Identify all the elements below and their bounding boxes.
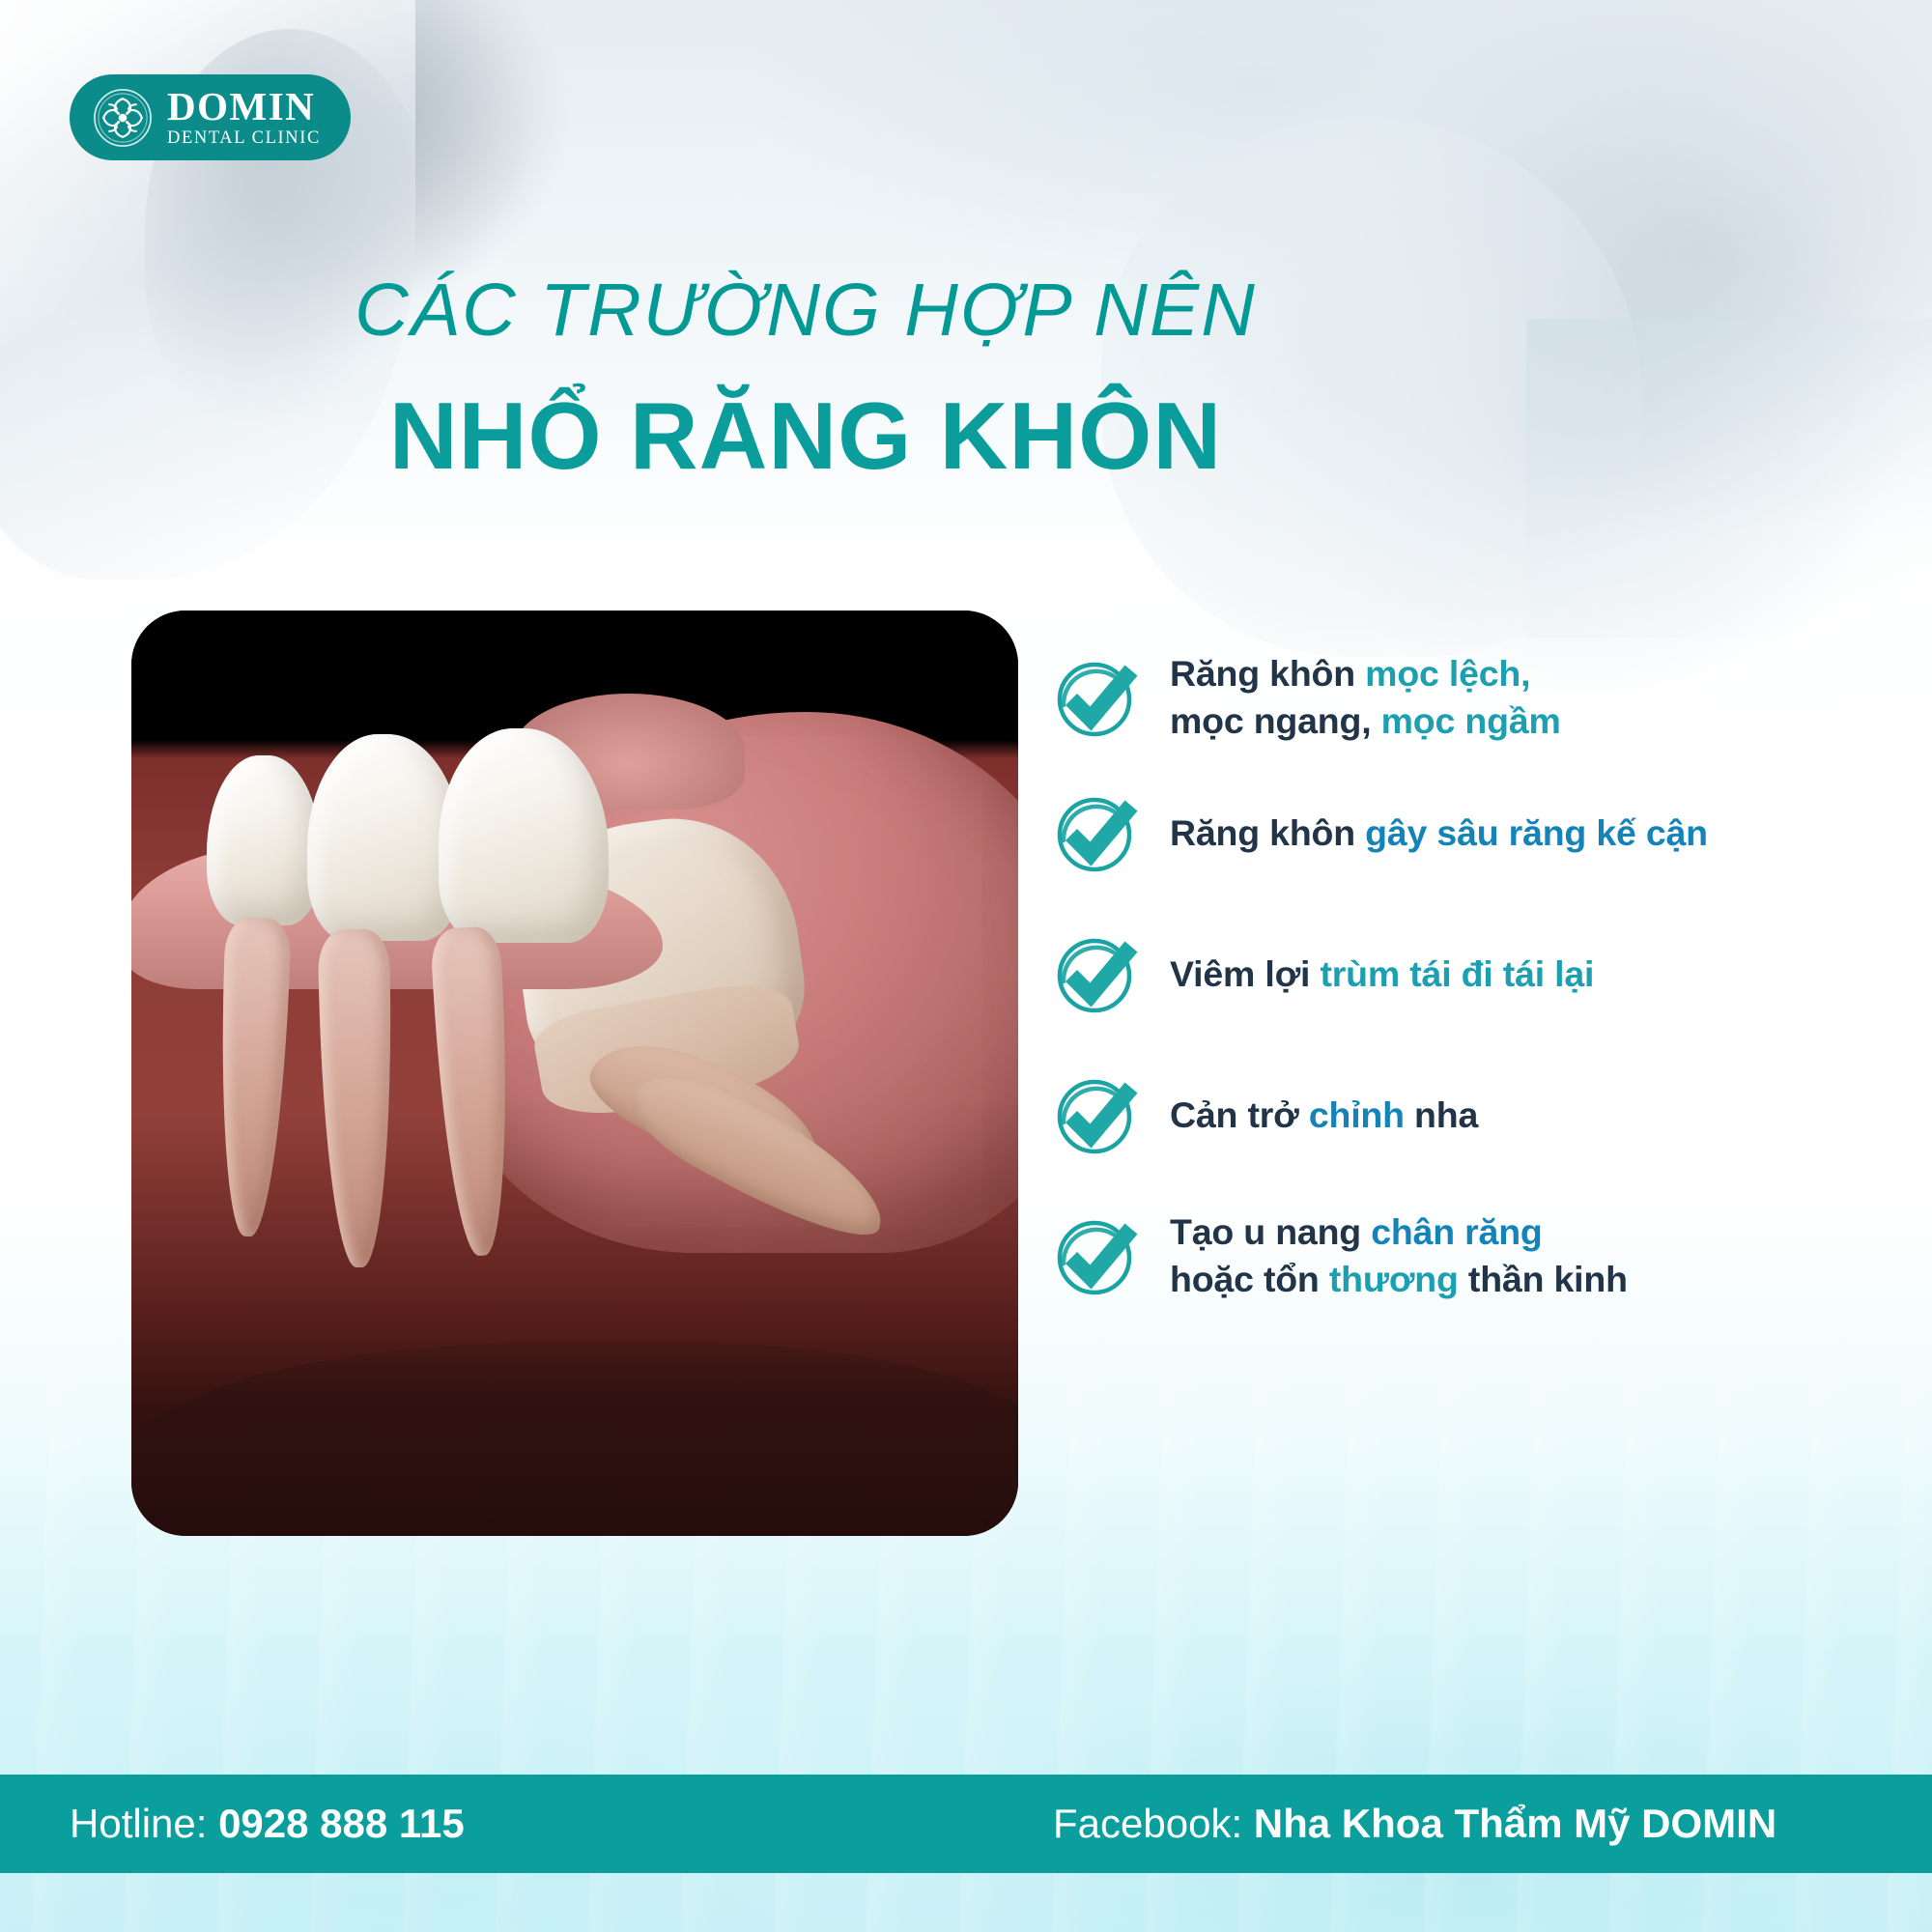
text-segment: mọc lệch, xyxy=(1365,653,1530,694)
checklist-item-line: Cản trở chỉnh nha xyxy=(1170,1092,1478,1139)
text-segment: gây sâu răng kế cận xyxy=(1365,812,1708,853)
text-segment: mọc ngang, xyxy=(1170,700,1381,741)
headline-line-1: CÁC TRƯỜNG HỢP NÊN xyxy=(0,273,1611,348)
check-circle-icon xyxy=(1048,925,1145,1022)
contact-footer-bar: Hotline: 0928 888 115 Facebook: Nha Khoa… xyxy=(0,1775,1932,1873)
headline-line-2: NHỔ RĂNG KHÔN xyxy=(0,388,1611,483)
checklist-item-1: Răng khôn mọc lệch,mọc ngang, mọc ngầm xyxy=(1048,649,1860,746)
text-segment: mọc ngầm xyxy=(1381,700,1561,741)
checklist-item-2: Răng khôn gây sâu răng kế cận xyxy=(1048,784,1860,881)
checklist-item-line: Răng khôn gây sâu răng kế cận xyxy=(1170,810,1708,857)
hotline-block[interactable]: Hotline: 0928 888 115 xyxy=(70,1801,465,1847)
checklist-item-label: Viêm lợi trùm tái đi tái lại xyxy=(1170,951,1594,998)
checklist-item-line: Viêm lợi trùm tái đi tái lại xyxy=(1170,951,1594,998)
text-segment: nha xyxy=(1405,1094,1478,1135)
text-segment: Cản trở xyxy=(1170,1094,1309,1135)
checklist-item-label: Tạo u nang chân rănghoặc tổn thương thần… xyxy=(1170,1208,1628,1303)
text-segment: thương xyxy=(1329,1259,1459,1299)
text-segment: trùm tái đi tái lại xyxy=(1321,953,1595,994)
logo-brand-subtitle: DENTAL CLINIC xyxy=(167,129,321,148)
facebook-label: Facebook: xyxy=(1053,1801,1242,1846)
text-segment: Răng khôn xyxy=(1170,653,1365,694)
text-segment: Tạo u nang xyxy=(1170,1211,1371,1252)
check-circle-icon xyxy=(1048,649,1145,746)
checklist-item-line: hoặc tổn thương thần kinh xyxy=(1170,1256,1628,1303)
check-circle-icon xyxy=(1048,784,1145,881)
checklist-item-3: Viêm lợi trùm tái đi tái lại xyxy=(1048,925,1860,1022)
checklist-item-label: Răng khôn gây sâu răng kế cận xyxy=(1170,810,1708,857)
poster-root: DOMIN DENTAL CLINIC CÁC TRƯỜNG HỢP NÊN N… xyxy=(0,0,1932,1932)
facebook-block[interactable]: Facebook: Nha Khoa Thẩm Mỹ DOMIN xyxy=(1053,1801,1776,1847)
checklist-item-5: Tạo u nang chân rănghoặc tổn thương thần… xyxy=(1048,1207,1860,1304)
checklist-item-label: Răng khôn mọc lệch,mọc ngang, mọc ngầm xyxy=(1170,650,1561,745)
brand-logo[interactable]: DOMIN DENTAL CLINIC xyxy=(70,74,351,160)
checklist-item-line: mọc ngang, mọc ngầm xyxy=(1170,697,1561,745)
text-segment: thần kinh xyxy=(1459,1259,1628,1299)
flower-emblem-icon xyxy=(91,86,155,150)
wisdom-tooth-illustration xyxy=(131,611,1018,1536)
hotline-value: 0928 888 115 xyxy=(218,1801,465,1846)
checklist-item-line: Răng khôn mọc lệch, xyxy=(1170,650,1561,697)
check-circle-icon xyxy=(1048,1066,1145,1163)
molar-crown-1 xyxy=(207,755,321,925)
facebook-value: Nha Khoa Thẩm Mỹ DOMIN xyxy=(1254,1801,1776,1846)
text-segment: chân răng xyxy=(1371,1211,1542,1252)
text-segment: chỉnh xyxy=(1309,1094,1405,1135)
logo-brand-name: DOMIN xyxy=(167,87,321,127)
checklist-item-label: Cản trở chỉnh nha xyxy=(1170,1092,1478,1139)
reasons-checklist: Răng khôn mọc lệch,mọc ngang, mọc ngầmRă… xyxy=(1048,649,1860,1343)
checklist-item-line: Tạo u nang chân răng xyxy=(1170,1208,1628,1256)
hotline-label: Hotline: xyxy=(70,1801,207,1846)
text-segment: Viêm lợi xyxy=(1170,953,1321,994)
check-circle-icon xyxy=(1048,1207,1145,1304)
text-segment: hoặc tổn xyxy=(1170,1259,1329,1299)
text-segment: Răng khôn xyxy=(1170,812,1365,853)
checklist-item-4: Cản trở chỉnh nha xyxy=(1048,1066,1860,1163)
